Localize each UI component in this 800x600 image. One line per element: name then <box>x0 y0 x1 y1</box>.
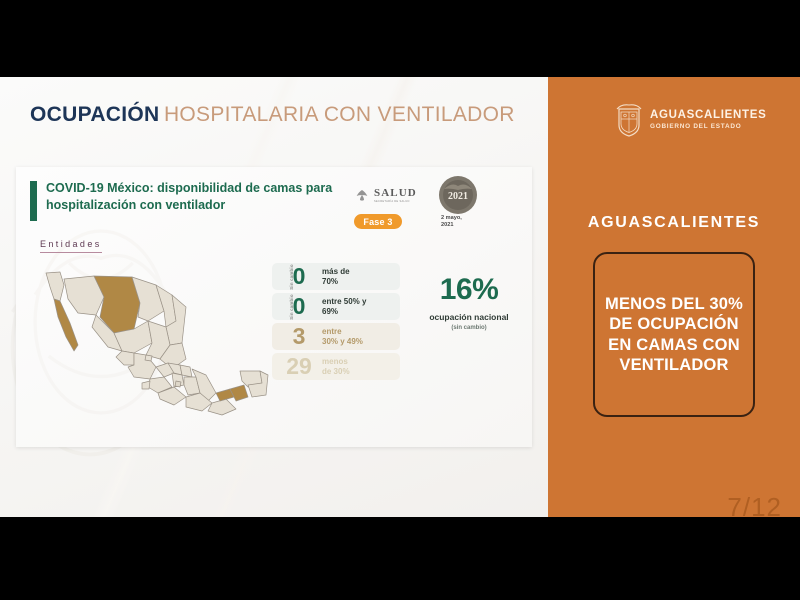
stat-label: menos de 30% <box>322 357 350 377</box>
slide-header-light: HOSPITALARIA CON VENTILADOR <box>164 103 515 126</box>
national-occupancy-percent: 16% <box>414 275 524 305</box>
slide-stage: OCUPACIÓN HOSPITALARIA CON VENTILADOR <box>0 0 800 600</box>
stat-label: entre 50% y 69% <box>322 297 366 317</box>
stat-label: entre 30% y 49% <box>322 327 363 347</box>
stat-label-line2: de 30% <box>322 367 350 376</box>
report-date-line2: 2021 <box>441 222 462 229</box>
card-accent-bar <box>30 181 37 221</box>
seal-year: 2021 <box>448 191 468 202</box>
stat-count: 0 <box>276 265 322 288</box>
occupancy-stat-list: Sin cambio 0 más de 70% Sin cambio 0 ent… <box>272 263 400 383</box>
state-name-heading: AGUASCALIENTES <box>548 214 800 232</box>
report-date-line1: 2 mayo, <box>441 215 462 222</box>
report-date: 2 mayo, 2021 <box>441 215 462 229</box>
callout-text: MENOS DEL 30% DE OCUPACIÓN EN CAMAS CON … <box>603 294 745 376</box>
coat-of-arms-icon <box>615 103 643 137</box>
gov-subtitle: GOBIERNO DEL ESTADO <box>650 124 767 131</box>
stat-row: 29 menos de 30% <box>272 353 400 380</box>
salud-subtitle: SECRETARÍA DE SALUD <box>374 201 417 204</box>
aguascalientes-government-logo: AGUASCALIENTES GOBIERNO DEL ESTADO <box>615 103 767 137</box>
seal-2021-icon: 2021 <box>438 175 478 215</box>
stat-count: 29 <box>276 355 322 378</box>
stat-change-note: Sin cambio <box>289 264 294 289</box>
gov-title: AGUASCALIENTES <box>650 109 767 121</box>
stat-label-line1: entre <box>322 327 342 336</box>
letterbox-bar-bottom <box>0 517 800 600</box>
stat-count: 0 <box>276 295 322 318</box>
letterbox-bar-top <box>0 0 800 77</box>
stat-row: 3 entre 30% y 49% <box>272 323 400 350</box>
entidades-label: Entidades <box>40 239 102 253</box>
stat-row: Sin cambio 0 más de 70% <box>272 263 400 290</box>
national-occupancy: 16% ocupación nacional (sin cambio) <box>414 275 524 331</box>
stat-label-line1: menos <box>322 357 348 366</box>
state-panel: AGUASCALIENTES GOBIERNO DEL ESTADO AGUAS… <box>548 77 800 517</box>
stat-label: más de 70% <box>322 267 350 287</box>
phase-badge: Fase 3 <box>354 214 402 229</box>
stat-label-line1: más de <box>322 267 350 276</box>
map-of-mexico <box>30 259 270 419</box>
gov-text: AGUASCALIENTES GOBIERNO DEL ESTADO <box>650 109 767 130</box>
eagle-icon <box>354 188 370 204</box>
card-title: COVID-19 México: disponibilidad de camas… <box>46 180 356 215</box>
stat-label-line2: 70% <box>322 277 338 286</box>
stat-label-line2: 69% <box>322 307 338 316</box>
stat-label-line1: entre 50% y <box>322 297 366 306</box>
stat-label-line2: 30% y 49% <box>322 337 363 346</box>
slide-header-bold: OCUPACIÓN <box>30 103 159 126</box>
national-occupancy-label: ocupación nacional <box>414 312 524 322</box>
salud-title: SALUD <box>374 188 417 199</box>
stat-change-note: Sin cambio <box>289 294 294 319</box>
data-card: COVID-19 México: disponibilidad de camas… <box>16 167 532 447</box>
stat-count: 3 <box>276 325 322 348</box>
stat-row: Sin cambio 0 entre 50% y 69% <box>272 293 400 320</box>
national-occupancy-note: (sin cambio) <box>414 325 524 331</box>
slide-header-title: OCUPACIÓN HOSPITALARIA CON VENTILADOR <box>30 103 515 127</box>
callout-box: MENOS DEL 30% DE OCUPACIÓN EN CAMAS CON … <box>593 252 755 417</box>
salud-logo: SALUD SECRETARÍA DE SALUD <box>354 185 428 207</box>
presentation-slide: OCUPACIÓN HOSPITALARIA CON VENTILADOR <box>0 77 548 517</box>
salud-text: SALUD SECRETARÍA DE SALUD <box>374 188 417 203</box>
